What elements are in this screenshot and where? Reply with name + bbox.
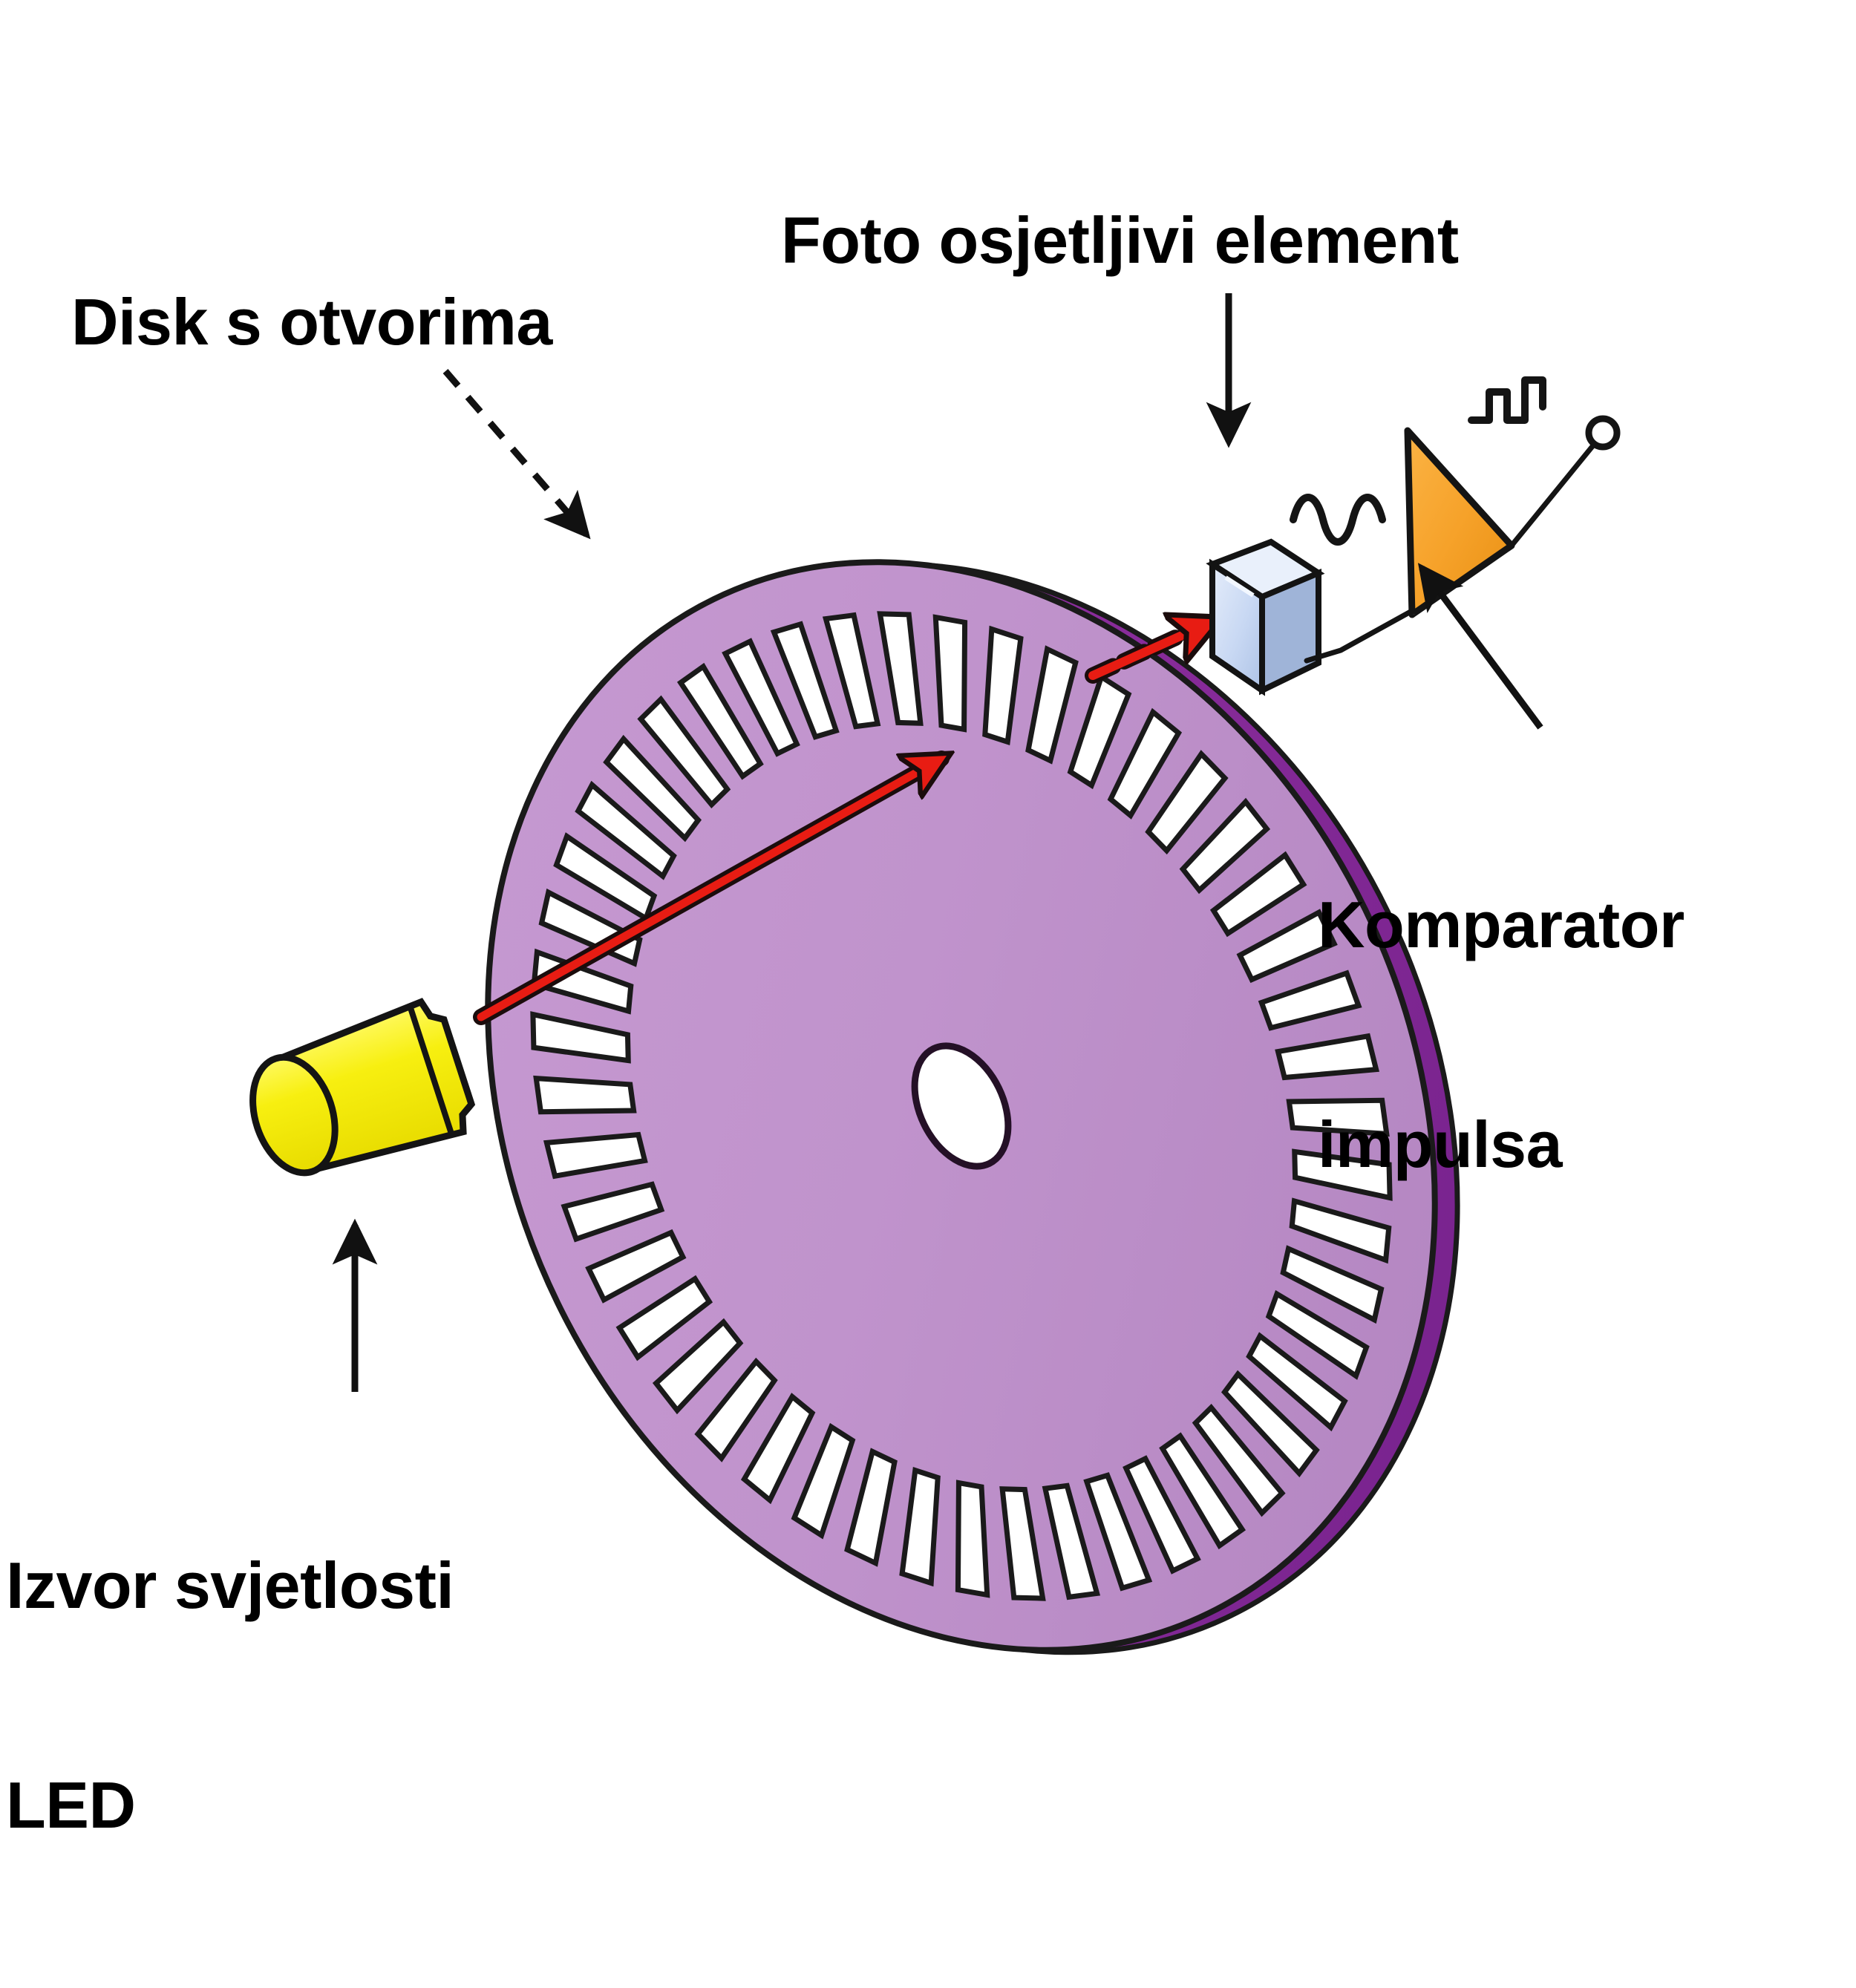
output-terminal xyxy=(1589,419,1617,447)
label-light-source-line1: Izvor svjetlosti xyxy=(6,1549,454,1623)
label-light-source: Izvor svjetlosti LED xyxy=(6,1403,454,1988)
wire-detector-to-comparator xyxy=(1307,612,1411,661)
leader-comparator xyxy=(1422,568,1540,727)
comparator-triangle xyxy=(1408,431,1512,615)
label-pulse-comparator: Komparator impulsa xyxy=(1318,742,1685,1327)
label-photo-sensitive-element: Foto osjetljivi element xyxy=(781,204,1459,278)
wire-comparator-output xyxy=(1512,445,1593,546)
diagram-canvas: Disk s otvorima Foto osjetljivi element … xyxy=(0,0,1856,1799)
detector-side-face xyxy=(1262,573,1319,690)
label-slotted-disk: Disk s otvorima xyxy=(71,286,552,359)
leader-disk xyxy=(445,371,586,534)
label-light-source-line2: LED xyxy=(6,1769,454,1843)
pulse-comparator xyxy=(1408,431,1512,615)
label-pulse-comparator-line2: impulsa xyxy=(1318,1108,1685,1182)
photo-sensitive-element xyxy=(1212,542,1319,690)
analog-waveform-sine xyxy=(1293,497,1382,542)
led-light-source xyxy=(236,997,479,1192)
label-pulse-comparator-line1: Komparator xyxy=(1318,889,1685,962)
digital-waveform-square xyxy=(1471,380,1543,420)
